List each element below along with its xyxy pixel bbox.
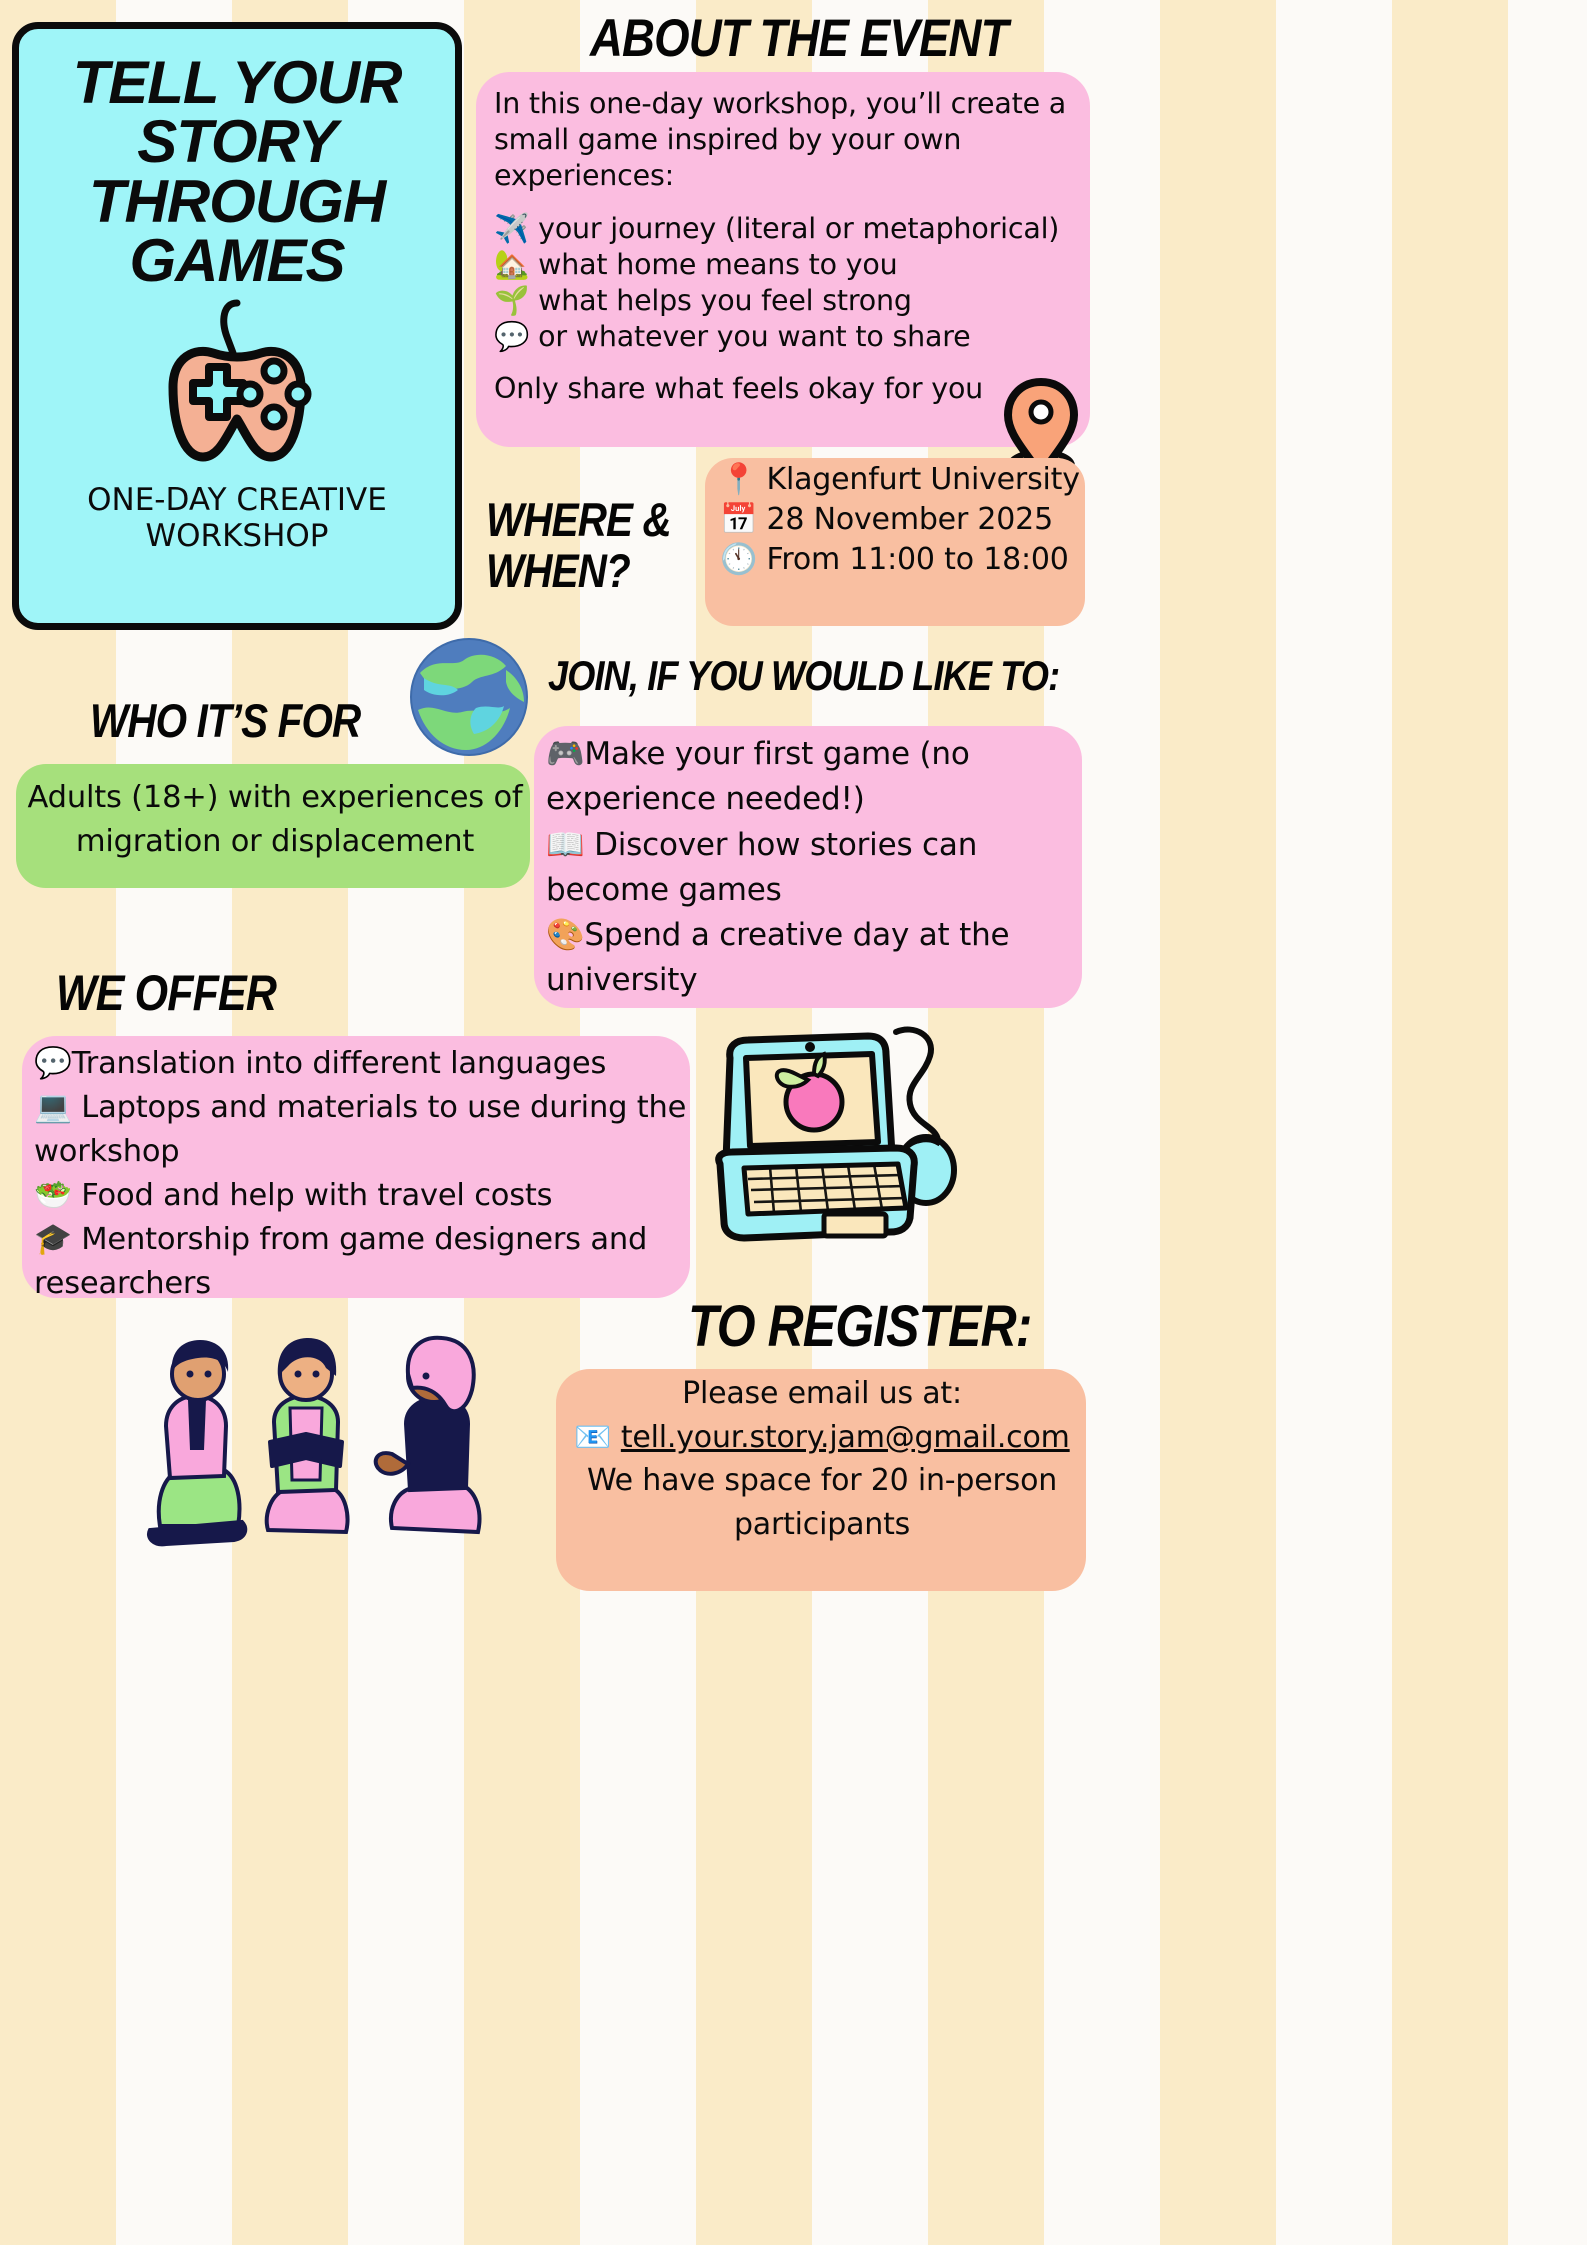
- speech-balloon-icon: 💬: [494, 320, 529, 353]
- where-line-0: 📍 Klagenfurt University: [720, 460, 1080, 500]
- offer-bullet-2: 🥗 Food and help with travel costs: [34, 1174, 694, 1218]
- we-offer-body: 💬Translation into different languages 💻 …: [34, 1042, 694, 1305]
- about-heading: ABOUT THE EVENT: [590, 12, 1008, 65]
- spacer: [494, 195, 1080, 211]
- globe-illustration: [410, 638, 528, 756]
- salad-icon: 🥗: [34, 1178, 72, 1213]
- video-game-controller-icon: 🎮: [546, 736, 584, 772]
- where-when-heading: WHERE & WHEN?: [486, 495, 692, 597]
- open-book-icon: 📖: [546, 827, 584, 863]
- join-heading: JOIN, IF YOU WOULD LIKE TO:: [548, 655, 1059, 697]
- airplane-icon: ✈️: [494, 212, 529, 245]
- about-bullet-3: 💬 or whatever you want to share: [494, 319, 1080, 355]
- laptop-icon: 💻: [34, 1090, 72, 1125]
- join-bullet-2: 🎨Spend a creative day at the university: [546, 913, 1080, 1004]
- graduation-cap-icon: 🎓: [34, 1222, 72, 1257]
- where-line-2: 🕚 From 11:00 to 18:00: [720, 540, 1080, 580]
- about-footer: Only share what feels okay for you: [494, 371, 1080, 407]
- people-illustration: [120, 1330, 520, 1562]
- register-body: Please email us at: 📧 tell.your.story.ja…: [566, 1372, 1078, 1546]
- gamepad-illustration: [19, 295, 455, 480]
- house-icon: 🏡: [494, 248, 529, 281]
- join-bullet-0: 🎮Make your first game (no experience nee…: [546, 732, 1080, 823]
- we-offer-heading: WE OFFER: [56, 968, 276, 1018]
- page-title: TELL YOUR STORY THROUGH GAMES: [19, 53, 455, 291]
- laptop-illustration: [700, 1022, 960, 1254]
- person-left: [149, 1340, 245, 1544]
- offer-bullet-1: 💻 Laptops and materials to use during th…: [34, 1086, 694, 1174]
- register-heading: TO REGISTER:: [688, 1298, 1032, 1356]
- location-pin-icon: 📍: [720, 462, 757, 497]
- spacer: [494, 355, 1080, 371]
- calendar-icon: 📅: [720, 502, 757, 537]
- offer-bullet-3: 🎓 Mentorship from game designers and res…: [34, 1218, 694, 1306]
- offer-bullet-0: 💬Translation into different languages: [34, 1042, 694, 1086]
- seedling-icon: 🌱: [494, 284, 529, 317]
- clock-icon: 🕚: [720, 542, 757, 577]
- email-icon: 📧: [574, 1420, 611, 1455]
- page-subtitle: ONE-DAY CREATIVE WORKSHOP: [19, 482, 455, 555]
- speech-balloon-icon: 💬: [34, 1046, 72, 1081]
- about-bullet-2: 🌱 what helps you feel strong: [494, 283, 1080, 319]
- register-email-link[interactable]: tell.your.story.jam@gmail.com: [621, 1420, 1070, 1455]
- where-when-body: 📍 Klagenfurt University 📅 28 November 20…: [720, 460, 1080, 580]
- about-intro: In this one-day workshop, you’ll create …: [494, 87, 1066, 192]
- artist-palette-icon: 🎨: [546, 917, 584, 953]
- about-body: In this one-day workshop, you’ll create …: [494, 86, 1080, 408]
- person-right: [376, 1338, 480, 1532]
- about-bullet-0: ✈️ your journey (literal or metaphorical…: [494, 211, 1080, 247]
- title-card: TELL YOUR STORY THROUGH GAMES ONE-DAY CR…: [12, 22, 462, 630]
- about-bullet-1: 🏡 what home means to you: [494, 247, 1080, 283]
- person-middle: [267, 1338, 348, 1532]
- register-line-1: Please email us at:: [566, 1372, 1078, 1416]
- where-line-1: 📅 28 November 2025: [720, 500, 1080, 540]
- who-its-for-body: Adults (18+) with experiences of migrati…: [26, 776, 524, 863]
- join-body: 🎮Make your first game (no experience nee…: [546, 732, 1080, 1004]
- poster-root: TELL YOUR STORY THROUGH GAMES ONE-DAY CR…: [0, 0, 1587, 2245]
- register-line-3: We have space for 20 in-person participa…: [566, 1459, 1078, 1546]
- who-its-for-heading: WHO IT’S FOR: [90, 697, 360, 744]
- join-bullet-1: 📖 Discover how stories can become games: [546, 823, 1080, 914]
- register-email-line: 📧 tell.your.story.jam@gmail.com: [566, 1416, 1078, 1460]
